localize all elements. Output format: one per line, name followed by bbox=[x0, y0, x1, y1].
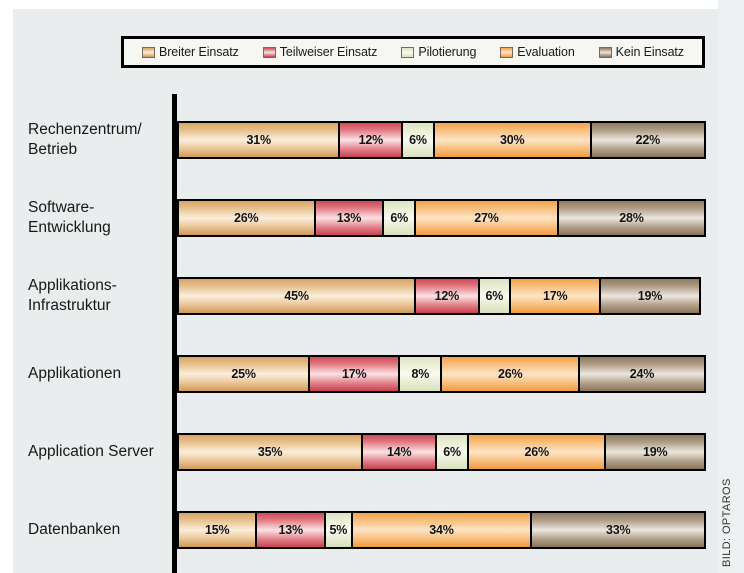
category-label: Application Server bbox=[28, 442, 172, 462]
legend-item-3[interactable]: Evaluation bbox=[500, 45, 574, 59]
bar-segment[interactable]: 22% bbox=[591, 121, 706, 159]
category-label-line1: Application Server bbox=[28, 442, 166, 462]
bar-segment[interactable]: 19% bbox=[600, 277, 701, 315]
bar-segment-value: 35% bbox=[258, 445, 282, 459]
category-label-line2: Infrastruktur bbox=[28, 296, 166, 316]
chart-row: Rechenzentrum/Betrieb31%12%6%30%22% bbox=[28, 104, 718, 176]
chart-legend: Breiter EinsatzTeilweiser EinsatzPilotie… bbox=[121, 36, 705, 68]
chart-row: Applikations-Infrastruktur45%12%6%17%19% bbox=[28, 260, 718, 332]
figure-top-margin bbox=[0, 0, 744, 9]
category-label-line1: Software- bbox=[28, 198, 166, 218]
legend-label: Breiter Einsatz bbox=[159, 45, 239, 59]
bar-segment-value: 26% bbox=[498, 367, 522, 381]
bar-segment[interactable]: 26% bbox=[177, 199, 315, 237]
bar-segment[interactable]: 34% bbox=[352, 511, 532, 549]
bar-segment[interactable]: 30% bbox=[434, 121, 591, 159]
bar-segment-value: 15% bbox=[205, 523, 229, 537]
image-credit-text: BILD: OPTAROS bbox=[721, 478, 733, 567]
legend-label: Pilotierung bbox=[418, 45, 476, 59]
bar-segment-value: 6% bbox=[486, 289, 504, 303]
bar-segment-value: 13% bbox=[279, 523, 303, 537]
bar-segment[interactable]: 17% bbox=[510, 277, 600, 315]
bar-segment[interactable]: 8% bbox=[399, 355, 441, 393]
figure-left-margin bbox=[0, 0, 13, 573]
stacked-bar: 31%12%6%30%22% bbox=[177, 121, 706, 159]
bar-segment[interactable]: 13% bbox=[315, 199, 384, 237]
category-label-line2: Betrieb bbox=[28, 140, 166, 160]
legend-item-4[interactable]: Kein Einsatz bbox=[599, 45, 684, 59]
chart-row: Software-Entwicklung26%13%6%27%28% bbox=[28, 182, 718, 254]
bar-segment[interactable]: 45% bbox=[177, 277, 415, 315]
legend-item-1[interactable]: Teilweiser Einsatz bbox=[263, 45, 378, 59]
bar-segment[interactable]: 31% bbox=[177, 121, 339, 159]
bar-segment-value: 12% bbox=[359, 133, 383, 147]
legend-item-2[interactable]: Pilotierung bbox=[401, 45, 476, 59]
chart-row: Application Server35%14%6%26%19% bbox=[28, 416, 718, 488]
bar-segment-value: 45% bbox=[284, 289, 308, 303]
bar-segment-value: 27% bbox=[474, 211, 498, 225]
bar-segment[interactable]: 6% bbox=[383, 199, 415, 237]
bar-segment[interactable]: 15% bbox=[177, 511, 256, 549]
bar-segment[interactable]: 12% bbox=[415, 277, 478, 315]
image-credit: BILD: OPTAROS bbox=[724, 437, 742, 567]
stacked-bar: 26%13%6%27%28% bbox=[177, 199, 706, 237]
kein-einsatz-swatch bbox=[599, 47, 612, 58]
bar-segment[interactable]: 17% bbox=[309, 355, 399, 393]
bar-segment[interactable]: 13% bbox=[256, 511, 325, 549]
bar-segment[interactable]: 14% bbox=[362, 433, 436, 471]
bar-segment-value: 28% bbox=[619, 211, 643, 225]
bar-segment[interactable]: 27% bbox=[415, 199, 558, 237]
bar-segment-value: 26% bbox=[234, 211, 258, 225]
bar-segment[interactable]: 6% bbox=[402, 121, 433, 159]
bar-segment-value: 17% bbox=[342, 367, 366, 381]
bar-segment[interactable]: 33% bbox=[531, 511, 706, 549]
stacked-bar: 45%12%6%17%19% bbox=[177, 277, 706, 315]
bar-segment[interactable]: 26% bbox=[468, 433, 606, 471]
stacked-bar: 25%17%8%26%24% bbox=[177, 355, 706, 393]
bar-segment[interactable]: 6% bbox=[436, 433, 468, 471]
bar-segment-value: 13% bbox=[337, 211, 361, 225]
bar-segment[interactable]: 12% bbox=[339, 121, 402, 159]
category-label: Software-Entwicklung bbox=[28, 198, 172, 238]
bar-segment-value: 6% bbox=[409, 133, 427, 147]
bar-segment-value: 17% bbox=[543, 289, 567, 303]
pilotierung-swatch bbox=[401, 47, 414, 58]
bar-segment-value: 30% bbox=[500, 133, 524, 147]
legend-label: Teilweiser Einsatz bbox=[280, 45, 378, 59]
bar-segment[interactable]: 25% bbox=[177, 355, 309, 393]
chart-row: Datenbanken15%13%5%34%33% bbox=[28, 494, 718, 566]
breiter-einsatz-swatch bbox=[142, 47, 155, 58]
bar-segment[interactable]: 26% bbox=[441, 355, 579, 393]
legend-item-0[interactable]: Breiter Einsatz bbox=[142, 45, 239, 59]
bar-segment-value: 25% bbox=[231, 367, 255, 381]
bar-segment-value: 6% bbox=[390, 211, 408, 225]
bar-segment-value: 31% bbox=[246, 133, 270, 147]
chart-row: Applikationen25%17%8%26%24% bbox=[28, 338, 718, 410]
bar-segment-value: 5% bbox=[329, 523, 347, 537]
category-label-line2: Entwicklung bbox=[28, 218, 166, 238]
bar-segment[interactable]: 28% bbox=[558, 199, 706, 237]
category-label-line1: Datenbanken bbox=[28, 520, 166, 540]
category-label: Applikationen bbox=[28, 364, 172, 384]
plot-area: Rechenzentrum/Betrieb31%12%6%30%22%Softw… bbox=[28, 94, 718, 573]
bar-segment-value: 12% bbox=[435, 289, 459, 303]
bar-segment-value: 34% bbox=[429, 523, 453, 537]
legend-label: Kein Einsatz bbox=[616, 45, 684, 59]
bar-segment[interactable]: 35% bbox=[177, 433, 362, 471]
bar-segment-value: 22% bbox=[636, 133, 660, 147]
bar-segment-value: 6% bbox=[443, 445, 461, 459]
bar-segment-value: 33% bbox=[606, 523, 630, 537]
category-label-line1: Applikationen bbox=[28, 364, 166, 384]
category-label: Applikations-Infrastruktur bbox=[28, 276, 172, 316]
teilweiser-einsatz-swatch bbox=[263, 47, 276, 58]
category-label-line1: Applikations- bbox=[28, 276, 166, 296]
category-label-line1: Rechenzentrum/ bbox=[28, 120, 166, 140]
bar-segment-value: 24% bbox=[630, 367, 654, 381]
stacked-bar: 35%14%6%26%19% bbox=[177, 433, 706, 471]
bar-segment[interactable]: 19% bbox=[605, 433, 706, 471]
category-label: Rechenzentrum/Betrieb bbox=[28, 120, 172, 160]
legend-label: Evaluation bbox=[517, 45, 574, 59]
evaluation-swatch bbox=[500, 47, 513, 58]
bar-segment-value: 8% bbox=[411, 367, 429, 381]
bar-segment-value: 26% bbox=[524, 445, 548, 459]
stacked-bar: 15%13%5%34%33% bbox=[177, 511, 706, 549]
bar-segment-value: 14% bbox=[387, 445, 411, 459]
bar-segment[interactable]: 5% bbox=[325, 511, 351, 549]
category-label: Datenbanken bbox=[28, 520, 172, 540]
chart-container: Breiter EinsatzTeilweiser EinsatzPilotie… bbox=[0, 0, 744, 573]
bar-segment[interactable]: 6% bbox=[479, 277, 511, 315]
bar-segment-value: 19% bbox=[643, 445, 667, 459]
bar-segment[interactable]: 24% bbox=[579, 355, 706, 393]
bar-segment-value: 19% bbox=[638, 289, 662, 303]
